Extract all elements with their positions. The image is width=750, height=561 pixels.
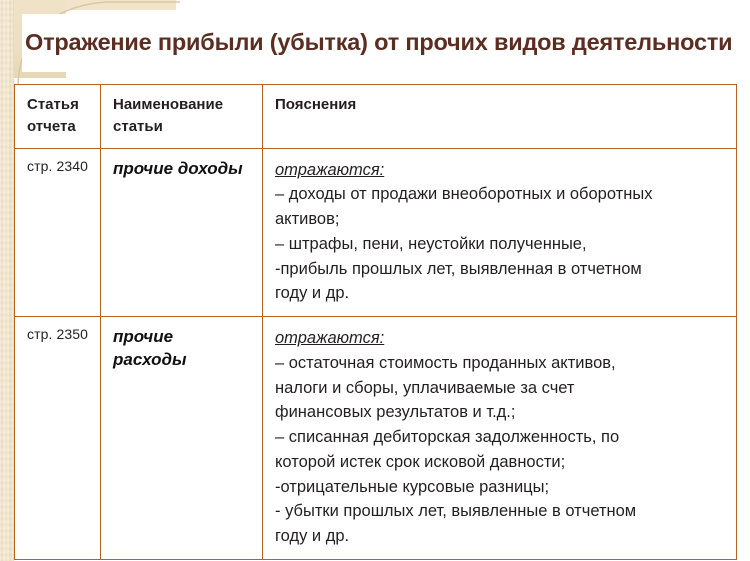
explanations-table: Статья отчета Наименование статьи Поясне…: [14, 84, 737, 560]
column-header-notes: Пояснения: [263, 85, 737, 149]
table-header-row: Статья отчета Наименование статьи Поясне…: [15, 85, 737, 149]
cell-item-name: прочие расходы: [101, 317, 263, 560]
notes-line: – списанная дебиторская задолженность, п…: [275, 425, 726, 450]
notes-line: активов;: [275, 207, 726, 232]
notes-line: -отрицательные курсовые разницы;: [275, 475, 726, 500]
cell-article-code: стр. 2340: [15, 148, 101, 317]
notes-line: - убытки прошлых лет, выявленные в отчет…: [275, 499, 726, 524]
notes-lead: отражаются:: [275, 158, 726, 183]
column-header-name: Наименование статьи: [101, 85, 263, 149]
notes-line: налоги и сборы, уплачиваемые за счет: [275, 376, 726, 401]
cell-article-code: стр. 2350: [15, 317, 101, 560]
column-header-article: Статья отчета: [15, 85, 101, 149]
column-header-article-line-1: Статья: [27, 94, 90, 116]
article-code-value: стр. 2350: [27, 326, 88, 342]
column-header-name-line-1: Наименование: [113, 94, 252, 116]
page-title: Отражение прибыли (убытка) от прочих вид…: [25, 29, 725, 56]
item-name-line: прочие: [113, 326, 252, 349]
notes-line: – остаточная стоимость проданных активов…: [275, 351, 726, 376]
cell-notes: отражаются: – доходы от продажи внеоборо…: [263, 148, 737, 317]
article-code-value: стр. 2340: [27, 158, 88, 174]
notes-line: финансовых результатов и т.д.;: [275, 400, 726, 425]
column-header-article-line-2: отчета: [27, 116, 90, 138]
notes-line: – штрафы, пени, неустойки полученные,: [275, 232, 726, 257]
item-name-line: прочие доходы: [113, 158, 252, 181]
notes-line: которой истек срок исковой давности;: [275, 450, 726, 475]
column-header-notes-line-1: Пояснения: [275, 94, 726, 116]
column-header-name-line-2: статьи: [113, 116, 252, 138]
decorative-left-strip: [0, 0, 14, 561]
notes-line: году и др.: [275, 524, 726, 549]
cell-item-name: прочие доходы: [101, 148, 263, 317]
slide-canvas: Отражение прибыли (убытка) от прочих вид…: [0, 0, 750, 561]
table-row: стр. 2340 прочие доходы отражаются: – до…: [15, 148, 737, 317]
notes-line: – доходы от продажи внеоборотных и оборо…: [275, 182, 726, 207]
notes-lead: отражаются:: [275, 326, 726, 351]
table-row: стр. 2350 прочие расходы отражаются: – о…: [15, 317, 737, 560]
notes-line: году и др.: [275, 281, 726, 306]
cell-notes: отражаются: – остаточная стоимость прода…: [263, 317, 737, 560]
decorative-corner-bar: [66, 0, 176, 10]
item-name-line: расходы: [113, 349, 252, 372]
notes-line: -прибыль прошлых лет, выявленная в отчет…: [275, 257, 726, 282]
